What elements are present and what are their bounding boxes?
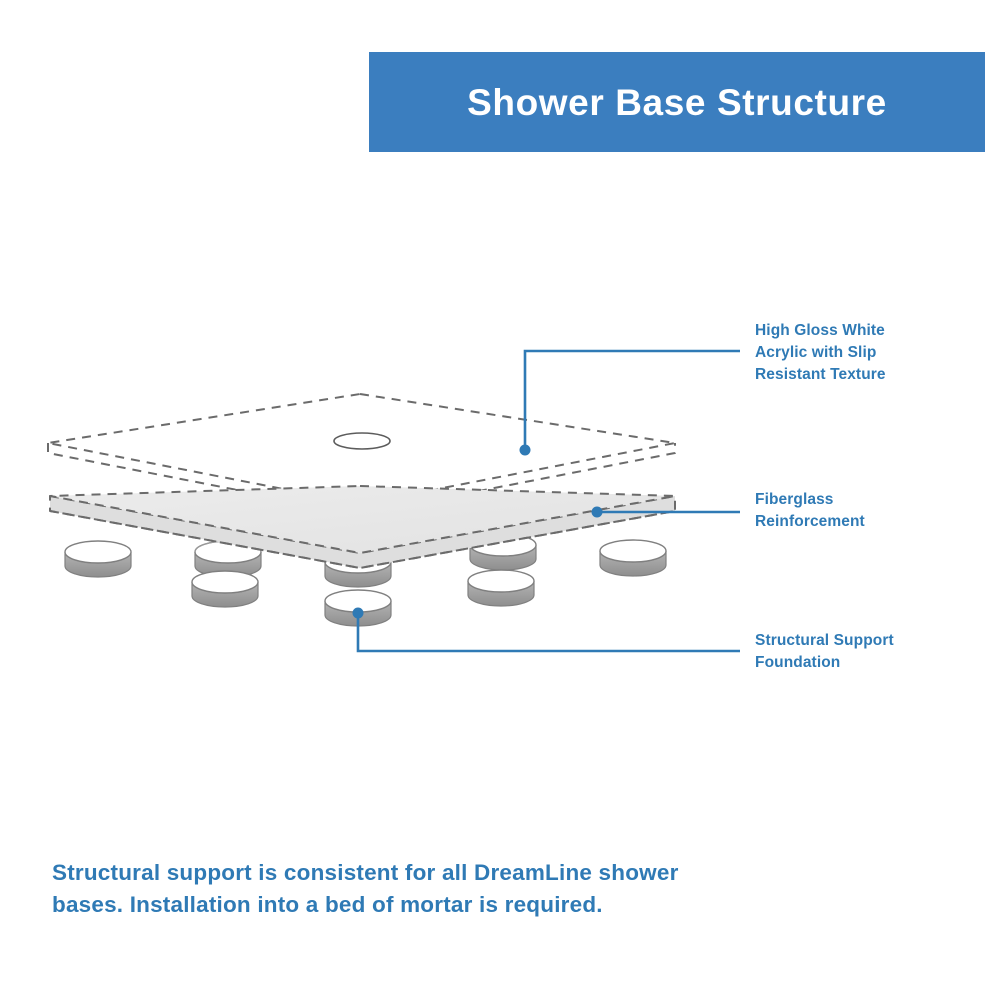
support-rings-group [195,534,536,587]
acrylic-top-plate [48,394,675,514]
support-ring [195,541,261,577]
support-ring [325,551,391,587]
callout-dot-fiberglass [592,507,603,518]
callout-label-support: Structural Support Foundation [755,630,965,674]
callout-label-fiberglass: Fiberglass Reinforcement [755,489,955,533]
callout-dot-support [353,608,364,619]
support-ring [192,571,258,607]
callout-label-acrylic: High Gloss White Acrylic with Slip Resis… [755,320,955,386]
page-title: Shower Base Structure [467,84,887,121]
support-ring [468,570,534,606]
callout-leader-support [353,608,741,652]
support-ring [325,590,391,626]
callout-leader-fiberglass [592,507,741,518]
support-rings-front-group [65,540,666,626]
drain-opening-icon [334,433,390,449]
support-ring [600,540,666,576]
title-banner: Shower Base Structure [369,52,985,152]
callout-dot-acrylic [520,445,531,456]
footer-caption: Structural support is consistent for all… [52,857,692,921]
support-ring [65,541,131,577]
support-ring [470,534,536,570]
fiberglass-plate [50,486,675,568]
callout-leader-acrylic [520,351,741,456]
page-root: Shower Base Structure [0,0,1000,1000]
